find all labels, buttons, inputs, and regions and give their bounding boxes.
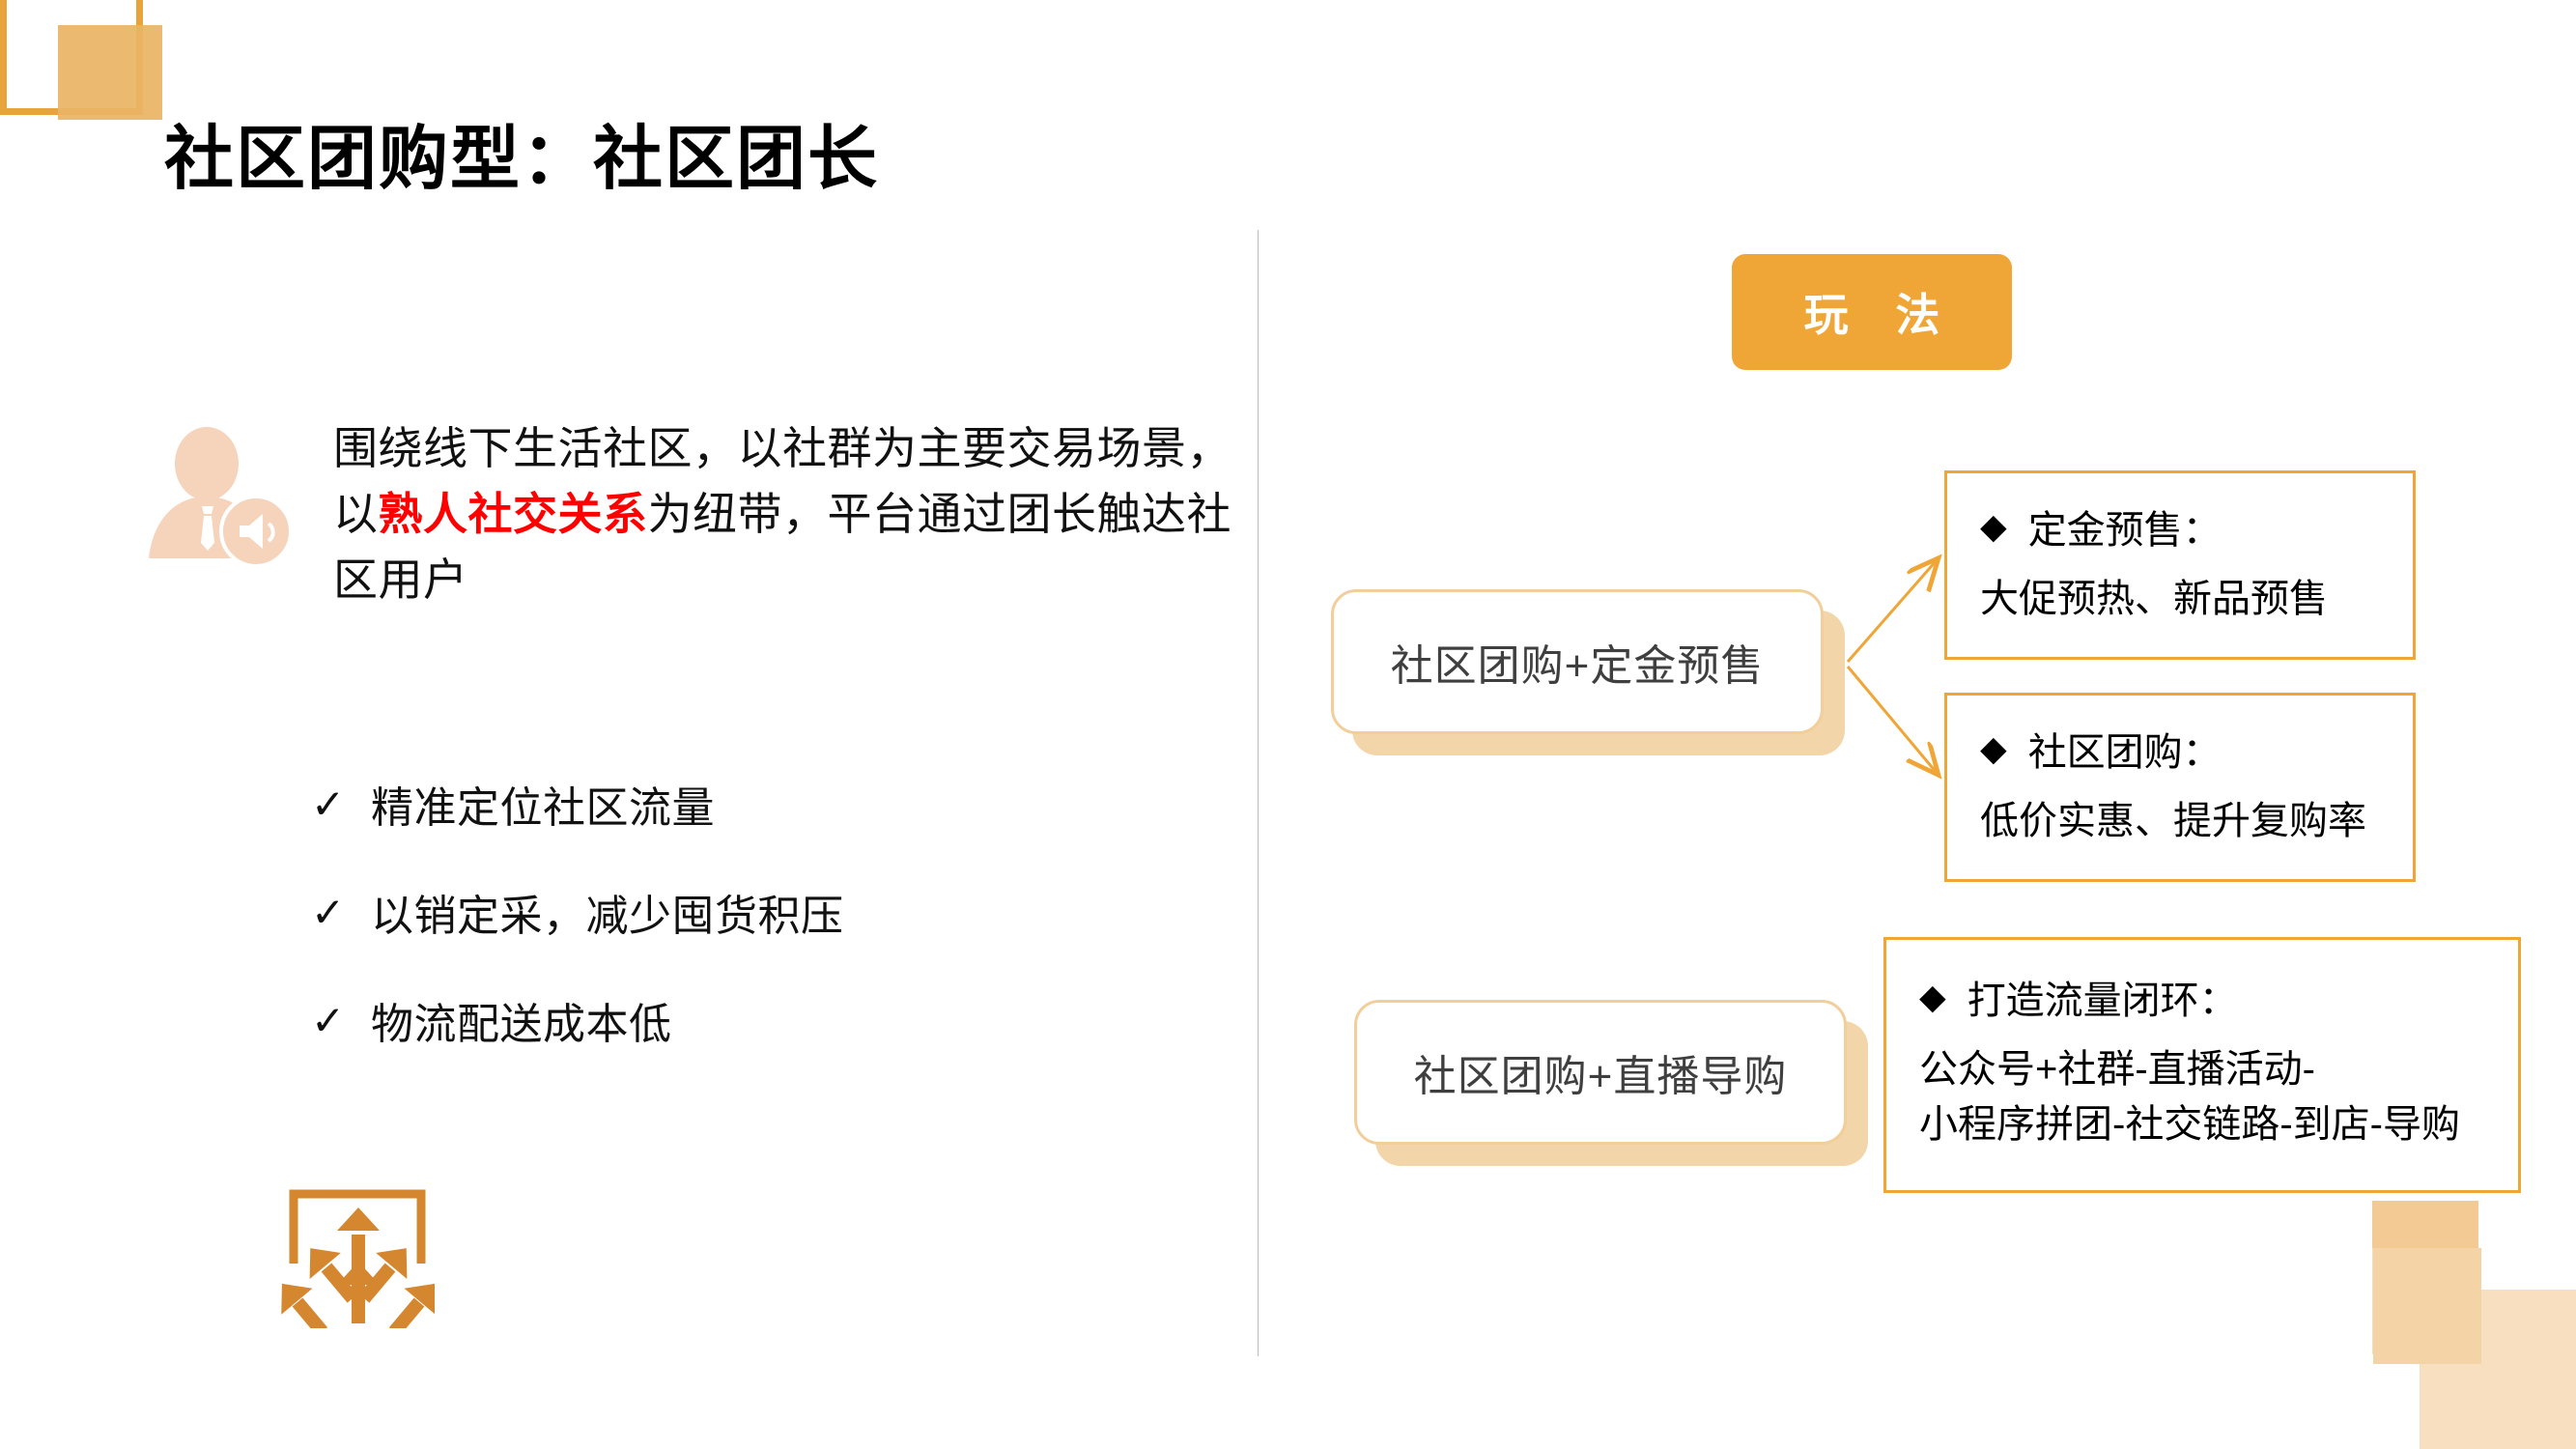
description-paragraph: 围绕线下生活社区，以社群为主要交易场景，以熟人社交关系为纽带，平台通过团长触达社… <box>333 415 1231 612</box>
detail-card-groupbuy: ◆ 社区团购： 低价实惠、提升复购率 <box>1944 693 2416 882</box>
check-icon: ✓ <box>311 997 371 1044</box>
advantages-list: ✓ 精准定位社区流量 ✓ 以销定采，减少囤货积压 ✓ 物流配送成本低 <box>311 773 1180 1097</box>
check-icon: ✓ <box>311 781 371 828</box>
card-heading: 打造流量闭环： <box>1967 969 2238 1025</box>
flow-box-label: 社区团购+直播导购 <box>1354 1000 1847 1145</box>
card-line: 低价实惠、提升复购率 <box>1980 794 2384 849</box>
check-icon: ✓ <box>311 889 371 936</box>
card-heading-row: ◆ 定金预售： <box>1980 498 2384 554</box>
list-item: ✓ 物流配送成本低 <box>311 989 1180 1051</box>
card-heading-row: ◆ 社区团购： <box>1980 721 2384 777</box>
card-line: 大促预热、新品预售 <box>1980 572 2384 627</box>
list-item: ✓ 精准定位社区流量 <box>311 773 1180 835</box>
decor-filled-square-topleft <box>58 25 162 120</box>
diamond-bullet-icon: ◆ <box>1919 980 1946 1014</box>
column-divider <box>1258 230 1259 1356</box>
list-item-label: 精准定位社区流量 <box>371 773 715 835</box>
list-item-label: 以销定采，减少囤货积压 <box>371 881 844 943</box>
detail-card-presale: ◆ 定金预售： 大促预热、新品预售 <box>1944 470 2416 660</box>
slide-canvas: 社区团购型：社区团长 围绕线下生活社区，以社群为主要交易场景，以熟人社交关系为纽… <box>0 0 2576 1449</box>
flow-box-livestream[interactable]: 社区团购+直播导购 <box>1354 1000 1847 1145</box>
list-item-label: 物流配送成本低 <box>371 989 672 1051</box>
description-highlight: 熟人社交关系 <box>379 489 648 539</box>
detail-card-traffic-loop: ◆ 打造流量闭环： 公众号+社群-直播活动- 小程序拼团-社交链路-到店-导购 <box>1883 937 2521 1193</box>
decor-square-over-card <box>2373 1248 2481 1364</box>
flow-box-label: 社区团购+定金预售 <box>1331 589 1824 734</box>
card-heading-row: ◆ 打造流量闭环： <box>1919 969 2489 1025</box>
person-with-megaphone-icon <box>147 427 306 582</box>
section-badge-wanfa: 玩 法 <box>1732 254 2012 370</box>
card-line: 公众号+社群-直播活动- <box>1919 1042 2489 1097</box>
flow-box-presale[interactable]: 社区团购+定金预售 <box>1331 589 1824 734</box>
diamond-bullet-icon: ◆ <box>1980 509 2007 544</box>
card-heading: 社区团购： <box>2028 721 2222 777</box>
card-line: 小程序拼团-社交链路-到店-导购 <box>1919 1097 2489 1152</box>
page-title: 社区团购型：社区团长 <box>164 101 879 203</box>
diamond-bullet-icon: ◆ <box>1980 731 2007 766</box>
card-heading: 定金预售： <box>2028 498 2222 554</box>
list-item: ✓ 以销定采，减少囤货积压 <box>311 881 1180 943</box>
converging-arrows-icon <box>280 1179 435 1328</box>
